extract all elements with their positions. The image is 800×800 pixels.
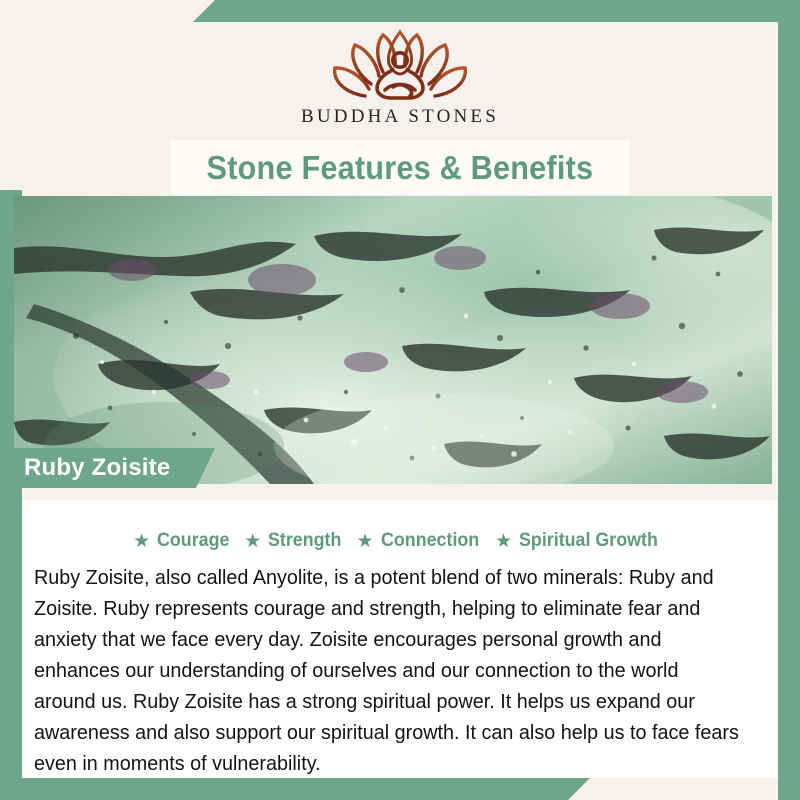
feature-tag-spiritual-growth: ★ Spiritual Growth xyxy=(495,530,667,552)
brand-name: BUDDHA STONES xyxy=(301,106,499,128)
frame-top-accent xyxy=(0,0,800,22)
feature-tag-label: Spiritual Growth xyxy=(519,530,658,552)
brand-logo-block: BUDDHA STONES xyxy=(0,22,800,140)
description-panel: ★ Courage ★ Strength ★ Connection ★ Spir… xyxy=(22,500,778,778)
stone-photo-graphic xyxy=(14,196,772,484)
feature-tag-courage: ★ Courage xyxy=(133,530,234,552)
infographic-page: BUDDHA STONES Stone Features & Benefits xyxy=(0,0,800,800)
feature-tags-row: ★ Courage ★ Strength ★ Connection ★ Spir… xyxy=(22,530,778,552)
description-text: Ruby Zoisite, also called Anyolite, is a… xyxy=(34,562,743,779)
frame-bottom-accent xyxy=(0,778,800,800)
stone-name: Ruby Zoisite xyxy=(24,454,170,482)
feature-tag-strength: ★ Strength xyxy=(244,530,346,552)
stone-name-tag: Ruby Zoisite xyxy=(0,448,215,488)
feature-tag-label: Strength xyxy=(268,530,341,552)
feature-tag-label: Connection xyxy=(381,530,479,552)
feature-tag-connection: ★ Connection xyxy=(356,530,485,552)
lotus-meditation-figure-icon xyxy=(325,26,475,104)
title-banner: Stone Features & Benefits xyxy=(170,140,630,195)
star-icon: ★ xyxy=(244,532,261,551)
star-icon: ★ xyxy=(133,532,150,551)
star-icon: ★ xyxy=(356,532,373,551)
star-icon: ★ xyxy=(495,532,512,551)
page-title: Stone Features & Benefits xyxy=(207,149,594,187)
feature-tag-label: Courage xyxy=(157,530,229,552)
stone-photo xyxy=(14,196,772,484)
